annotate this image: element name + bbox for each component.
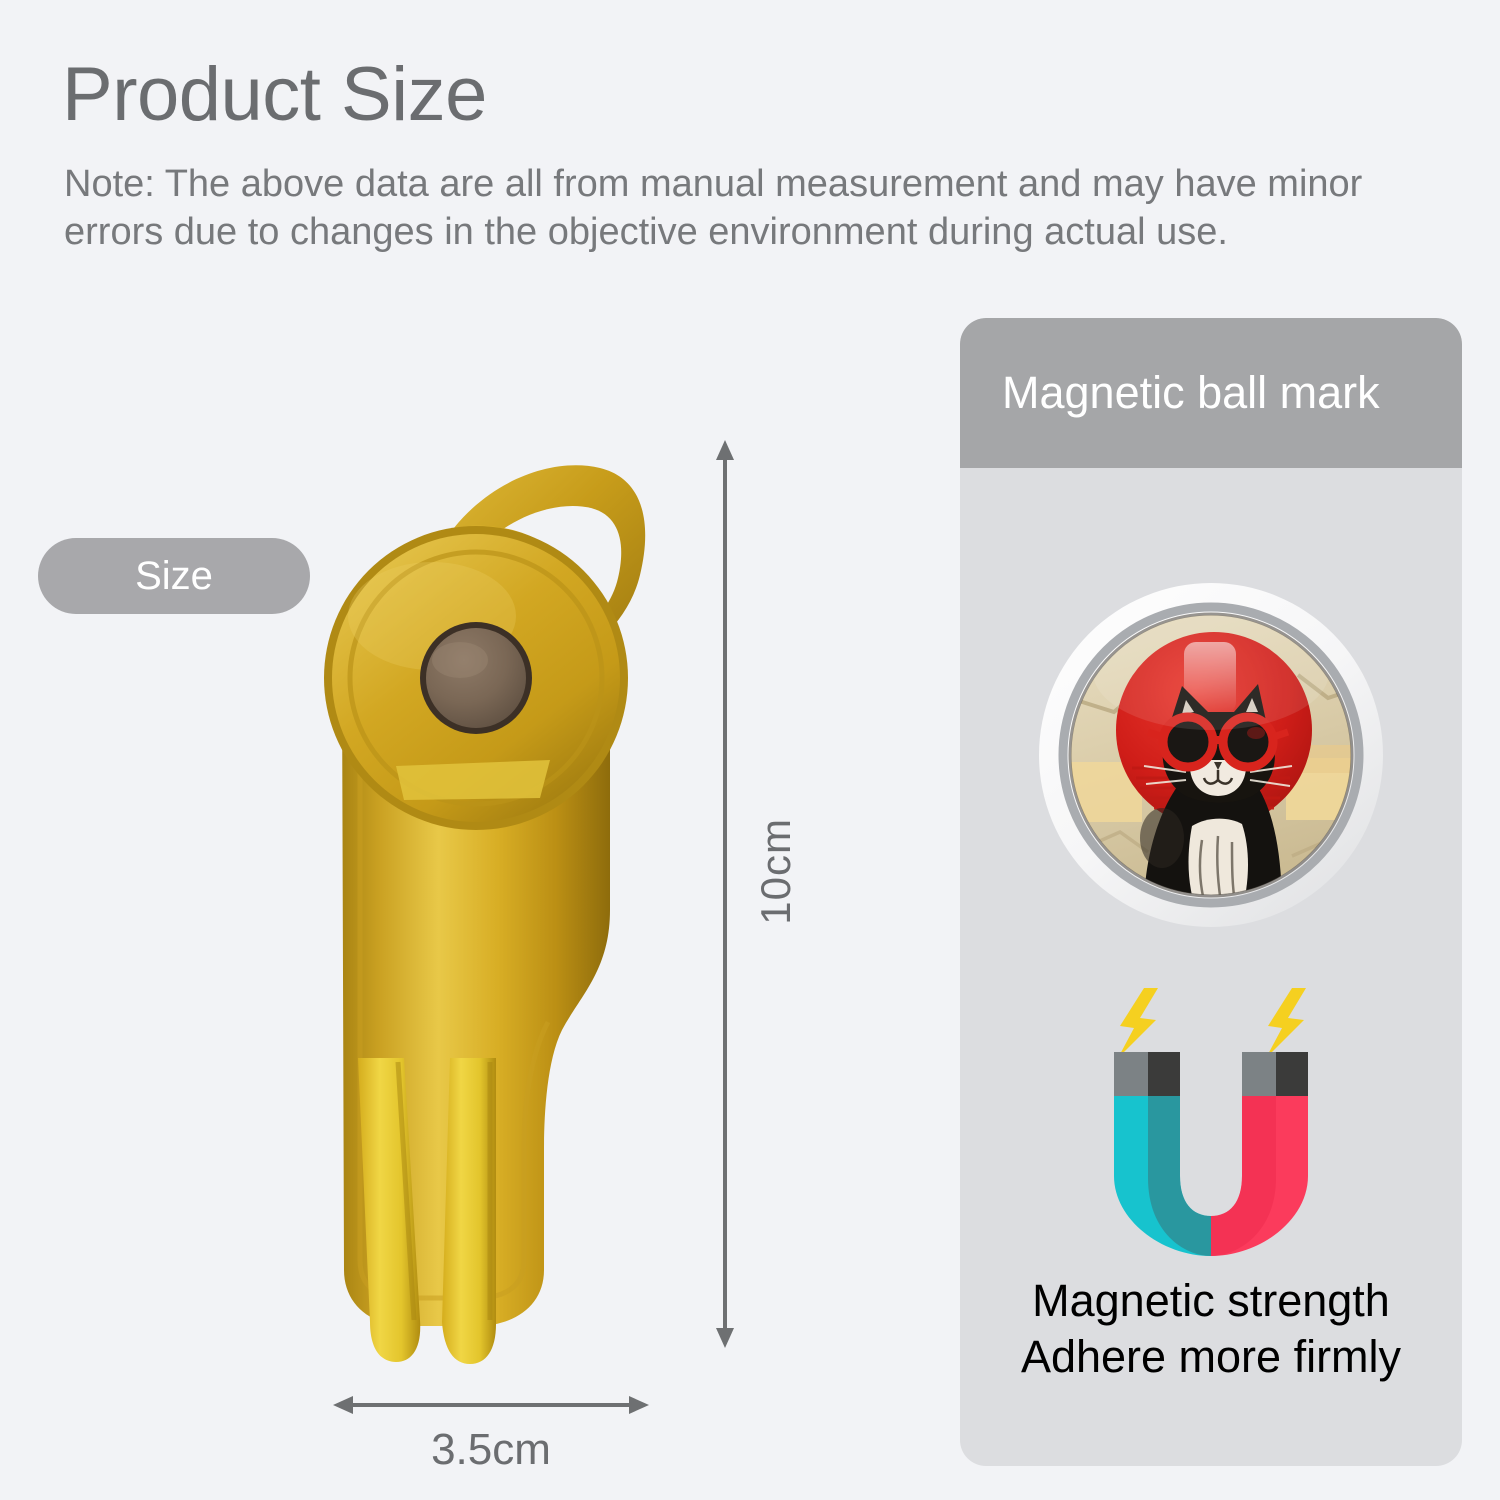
dimension-line (349, 1403, 633, 1407)
arrow-head-right-icon (629, 1396, 649, 1414)
panel-header: Magnetic ball mark (960, 318, 1462, 468)
size-badge: Size (38, 538, 310, 614)
size-badge-label: Size (135, 556, 213, 596)
magnet-caption: Magnetic strength Adhere more firmly (960, 1273, 1462, 1385)
width-dimension-arrow (333, 1396, 649, 1414)
lightning-bolt-icon (1118, 988, 1306, 1058)
caption-line-1: Magnetic strength (960, 1273, 1462, 1329)
page-note: Note: The above data are all from manual… (64, 160, 1454, 256)
panel-header-title: Magnetic ball mark (960, 367, 1380, 419)
magnetic-ball-marker-image (1036, 580, 1386, 930)
arrow-head-down-icon (716, 1328, 734, 1348)
width-dimension-label: 3.5cm (333, 1425, 649, 1475)
infographic-canvas: Product Size Note: The above data are al… (0, 0, 1500, 1500)
caption-line-2: Adhere more firmly (960, 1329, 1462, 1385)
magnetic-ball-mark-panel: Magnetic ball mark (960, 318, 1462, 1466)
height-dimension-label: 10cm (752, 818, 800, 925)
dimension-line (723, 456, 727, 1332)
height-dimension-arrow (716, 440, 734, 1348)
page-title: Product Size (62, 52, 487, 138)
horseshoe-magnet-icon (1100, 980, 1322, 1260)
golf-divot-tool-image (300, 430, 700, 1380)
